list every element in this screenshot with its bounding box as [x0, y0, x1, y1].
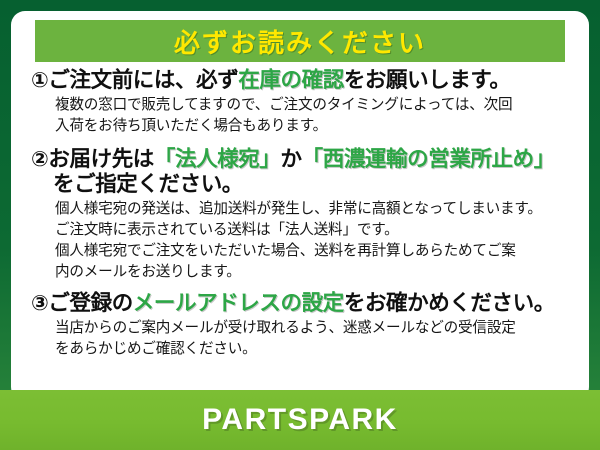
brand-name: PARTSPARK: [202, 403, 398, 437]
notice-item-3-heading-part-3: をお確かめください。: [344, 291, 555, 315]
notice-item-2-body: 個人様宅宛の発送は、追加送料が発生し、非常に高額となってしまいます。 ご注文時に…: [31, 199, 569, 282]
notice-item-2: ②お届け先は「法人様宛」か「西濃運輸の営業所止め」 をご指定ください。 個人様宅…: [31, 147, 569, 283]
notice-item-2-body-line-4: 内のメールをお送りします。: [55, 262, 569, 283]
notice-item-3-heading-part-1: ご登録の: [48, 291, 132, 315]
notice-item-3-body: 当店からのご案内メールが受け取れるよう、迷惑メールなどの受信設定 をあらかじめご…: [31, 318, 569, 360]
header-banner: 必ずお読みください: [35, 20, 565, 62]
notice-item-2-number: ②: [31, 148, 48, 171]
notice-item-2-body-line-2: ご注文時に表示されている送料は「法人送料」です。: [55, 220, 569, 241]
notice-item-2-heading-part-1: お届け先は: [48, 147, 154, 171]
header-title: 必ずお読みください: [174, 23, 426, 60]
notice-item-2-heading-highlight-1: 「法人様宛」: [154, 147, 281, 171]
notice-item-2-heading-part-3: か: [281, 147, 302, 171]
notice-item-3-body-line-2: をあらかじめご確認ください。: [55, 339, 569, 360]
notice-item-2-heading-highlight-2: 「西濃運輸の営業所止め」: [302, 147, 555, 171]
white-content-panel: 必ずお読みください ①ご注文前には、必ず在庫の確認をお願いします。 複数の窓口で…: [11, 11, 589, 401]
notice-item-1-heading-part-3: をお願いします。: [344, 68, 511, 92]
footer-brand-bar: PARTSPARK: [0, 390, 600, 450]
notice-item-1-heading-part-1: ご注文前には、必ず: [48, 68, 238, 92]
notice-item-1-body: 複数の窓口で販売してますので、ご注文のタイミングによっては、次回 入荷をお待ち頂…: [31, 95, 569, 137]
notice-item-1-heading: ①ご注文前には、必ず在庫の確認をお願いします。: [31, 68, 569, 93]
notice-item-1-body-line-1: 複数の窓口で販売してますので、ご注文のタイミングによっては、次回: [55, 95, 569, 116]
notice-item-1-body-line-2: 入荷をお待ち頂いただく場合もあります。: [55, 116, 569, 137]
notice-frame: 必ずお読みください ①ご注文前には、必ず在庫の確認をお願いします。 複数の窓口で…: [0, 0, 600, 450]
notice-item-3-body-line-1: 当店からのご案内メールが受け取れるよう、迷惑メールなどの受信設定: [55, 318, 569, 339]
notice-item-1-heading-highlight: 在庫の確認: [238, 68, 344, 92]
notice-item-2-heading-line-2: をご指定ください。: [31, 172, 569, 197]
notice-item-3: ③ご登録のメールアドレスの設定をお確かめください。 当店からのご案内メールが受け…: [31, 291, 569, 360]
notice-item-3-number: ③: [31, 292, 48, 315]
notice-item-1-number: ①: [31, 69, 48, 92]
notice-item-3-heading: ③ご登録のメールアドレスの設定をお確かめください。: [31, 291, 569, 316]
notice-item-2-heading: ②お届け先は「法人様宛」か「西濃運輸の営業所止め」 をご指定ください。: [31, 147, 569, 197]
notice-items-list: ①ご注文前には、必ず在庫の確認をお願いします。 複数の窓口で販売してますので、ご…: [23, 62, 577, 360]
notice-item-2-body-line-1: 個人様宅宛の発送は、追加送料が発生し、非常に高額となってしまいます。: [55, 199, 569, 220]
notice-item-2-body-line-3: 個人様宅宛でご注文をいただいた場合、送料を再計算しあらためてご案: [55, 241, 569, 262]
notice-item-1: ①ご注文前には、必ず在庫の確認をお願いします。 複数の窓口で販売してますので、ご…: [31, 68, 569, 137]
notice-item-3-heading-highlight: メールアドレスの設定: [133, 291, 344, 315]
